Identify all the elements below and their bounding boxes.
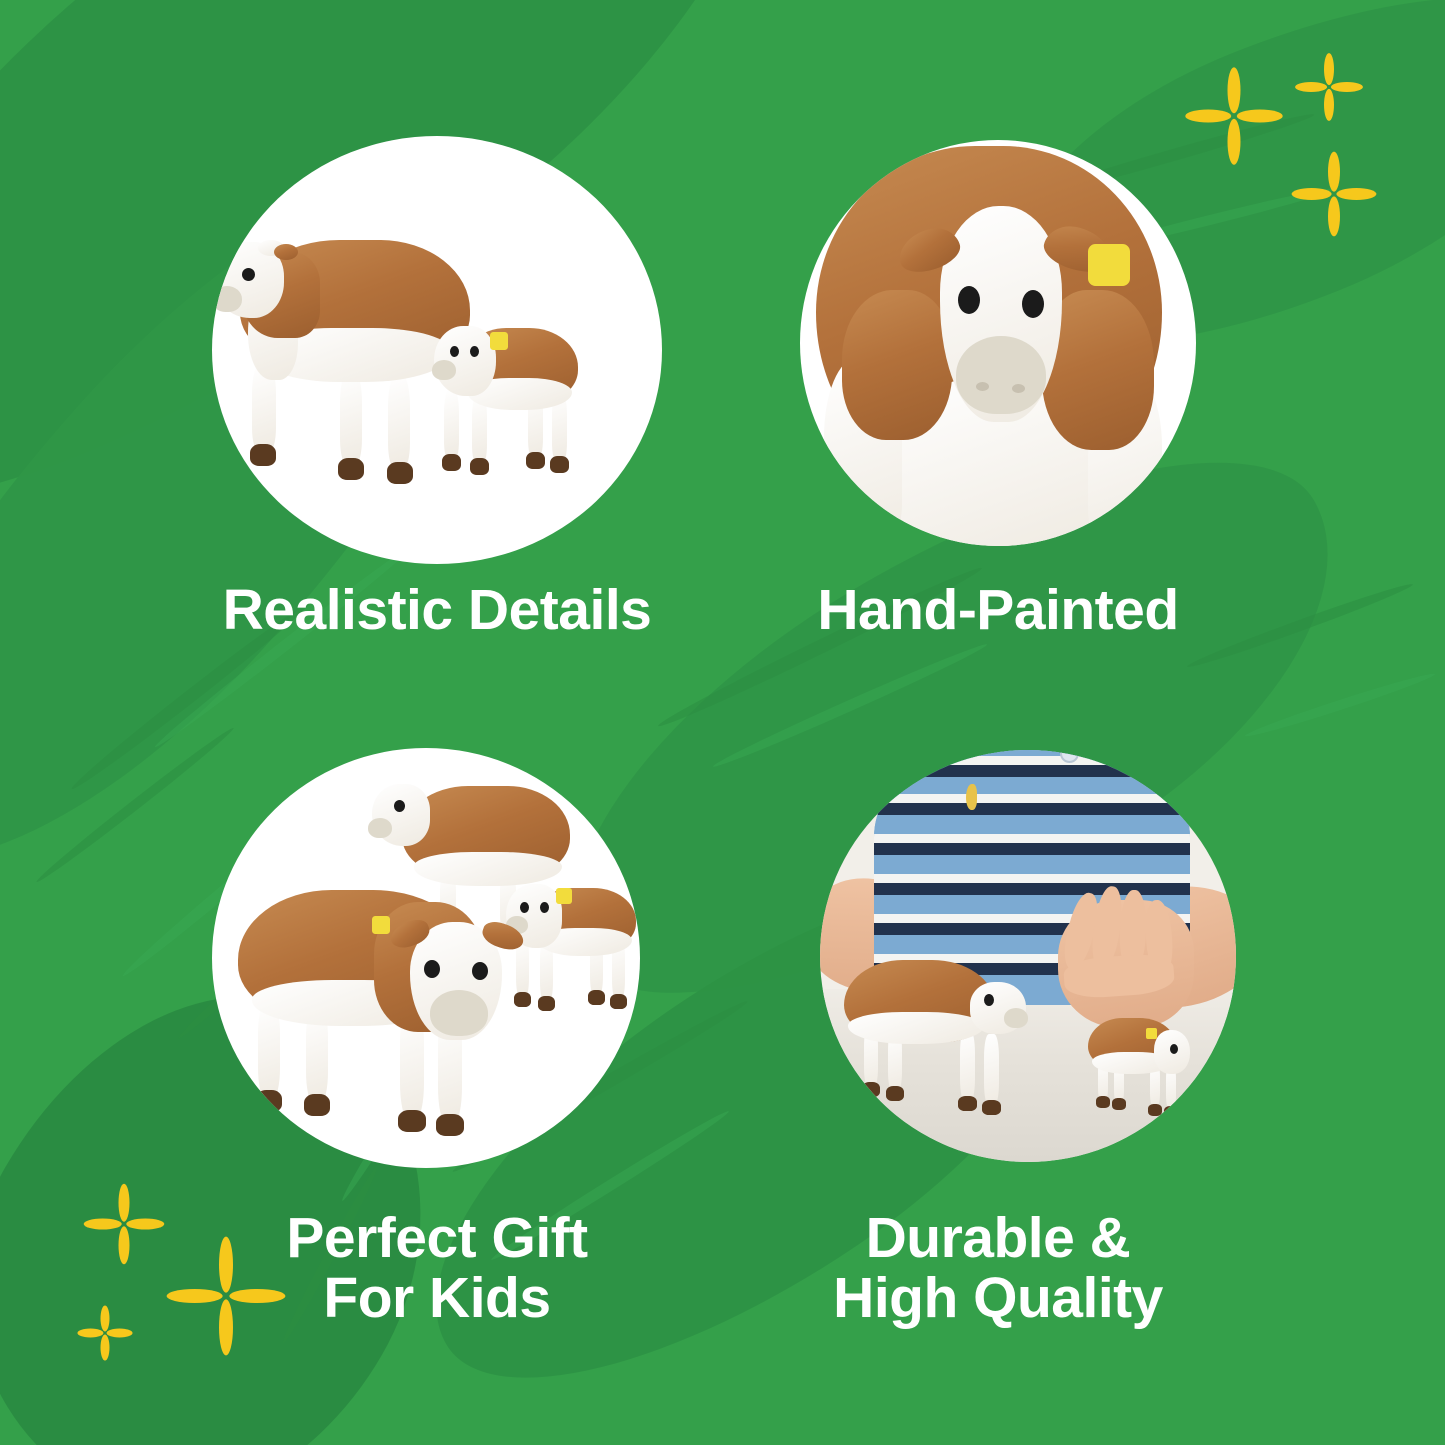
feature-caption-durable-high-quality: Durable & High Quality	[748, 1208, 1248, 1329]
product-feature-poster: Realistic Details	[0, 0, 1445, 1445]
shirt-logo-icon	[966, 784, 977, 810]
cow-figurine-calf	[420, 304, 580, 484]
feature-image-realistic-details	[212, 136, 662, 564]
ear-tag-icon	[1146, 1028, 1157, 1039]
sparkle-icon	[160, 1230, 292, 1362]
sparkle-icon	[1180, 62, 1288, 170]
ear-tag-icon	[372, 916, 390, 934]
feature-grid: Realistic Details	[0, 0, 1445, 1445]
child-with-figurines-photo	[820, 750, 1236, 1162]
feature-caption-hand-painted: Hand-Painted	[748, 580, 1248, 640]
cow-figurine-closeup	[800, 140, 1196, 546]
feature-caption-realistic-details: Realistic Details	[172, 580, 702, 640]
bull-figurine-foreground	[224, 868, 554, 1128]
ear-tag-icon	[556, 888, 572, 904]
sparkle-icon	[72, 1300, 138, 1366]
feature-image-perfect-gift	[212, 748, 640, 1168]
calf-figurine-on-table	[1078, 1012, 1196, 1122]
sparkle-icon	[1290, 48, 1368, 126]
ear-tag-icon	[490, 332, 508, 350]
cow-figurine-on-table	[828, 946, 1048, 1116]
feature-image-hand-painted	[800, 140, 1196, 546]
ear-tag-icon	[1088, 244, 1130, 286]
sparkle-icon	[1286, 146, 1382, 242]
feature-image-durable-high-quality	[820, 750, 1236, 1162]
sparkle-icon	[78, 1178, 170, 1270]
